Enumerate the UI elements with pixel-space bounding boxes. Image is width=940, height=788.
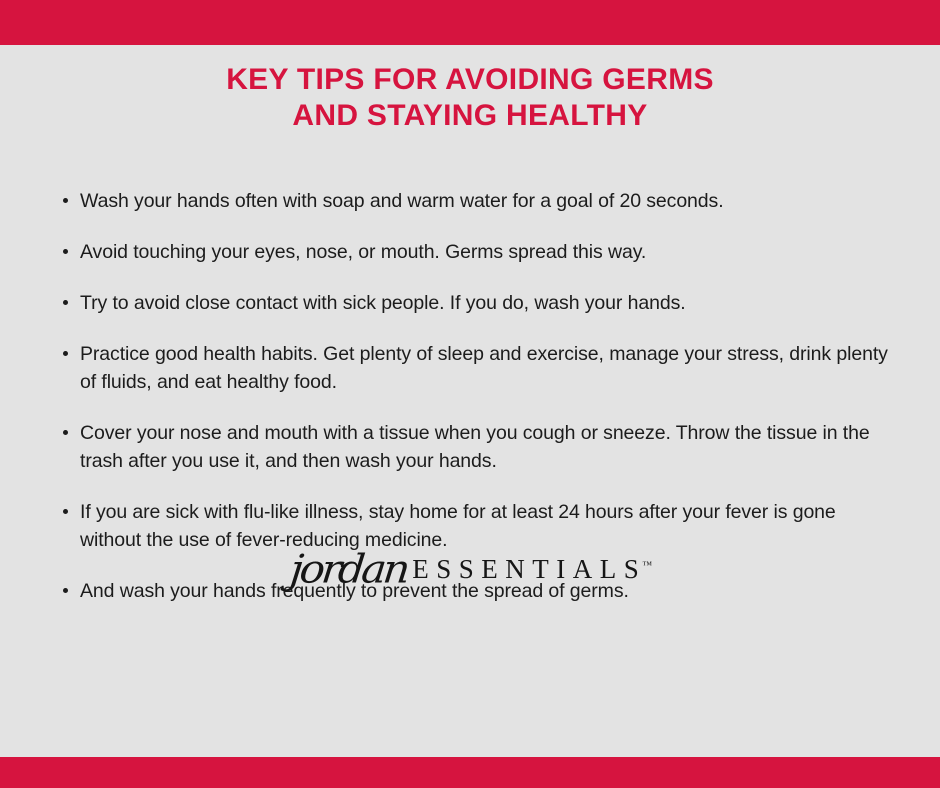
bullet-dot-icon — [63, 430, 68, 435]
bullet-dot-icon — [63, 509, 68, 514]
list-item-text: Try to avoid close contact with sick peo… — [80, 292, 686, 314]
top-accent-bar — [0, 0, 940, 45]
bullet-dot-icon — [63, 249, 68, 254]
trademark-icon: ™ — [642, 560, 652, 571]
list-item-text: Avoid touching your eyes, nose, or mouth… — [80, 241, 646, 263]
list-item: Wash your hands often with soap and warm… — [62, 187, 894, 215]
page-title: KEY TIPS FOR AVOIDING GERMS AND STAYING … — [0, 62, 940, 134]
poster: KEY TIPS FOR AVOIDING GERMS AND STAYING … — [0, 0, 940, 788]
page-title-line-1: KEY TIPS FOR AVOIDING GERMS — [0, 62, 940, 98]
brand-logo-inner: jordanESSENTIALS™ — [288, 539, 652, 591]
list-item: Try to avoid close contact with sick peo… — [62, 289, 894, 317]
brand-logo-script-word: jordan — [288, 546, 409, 592]
bottom-accent-bar — [0, 757, 940, 788]
list-item-text: Cover your nose and mouth with a tissue … — [80, 422, 870, 472]
list-item-text: Wash your hands often with soap and warm… — [80, 190, 724, 212]
list-item: Practice good health habits. Get plenty … — [62, 340, 894, 396]
list-item: Avoid touching your eyes, nose, or mouth… — [62, 238, 894, 266]
poster-body: KEY TIPS FOR AVOIDING GERMS AND STAYING … — [0, 45, 940, 757]
list-item: Cover your nose and mouth with a tissue … — [62, 419, 894, 475]
list-item-text: Practice good health habits. Get plenty … — [80, 343, 888, 393]
bullet-dot-icon — [63, 351, 68, 356]
bullet-dot-icon — [63, 300, 68, 305]
bullet-dot-icon — [63, 198, 68, 203]
brand-logo-serif-word: ESSENTIALS — [412, 554, 646, 585]
brand-logo: jordanESSENTIALS™ — [0, 539, 940, 591]
page-title-line-2: AND STAYING HEALTHY — [0, 98, 940, 134]
